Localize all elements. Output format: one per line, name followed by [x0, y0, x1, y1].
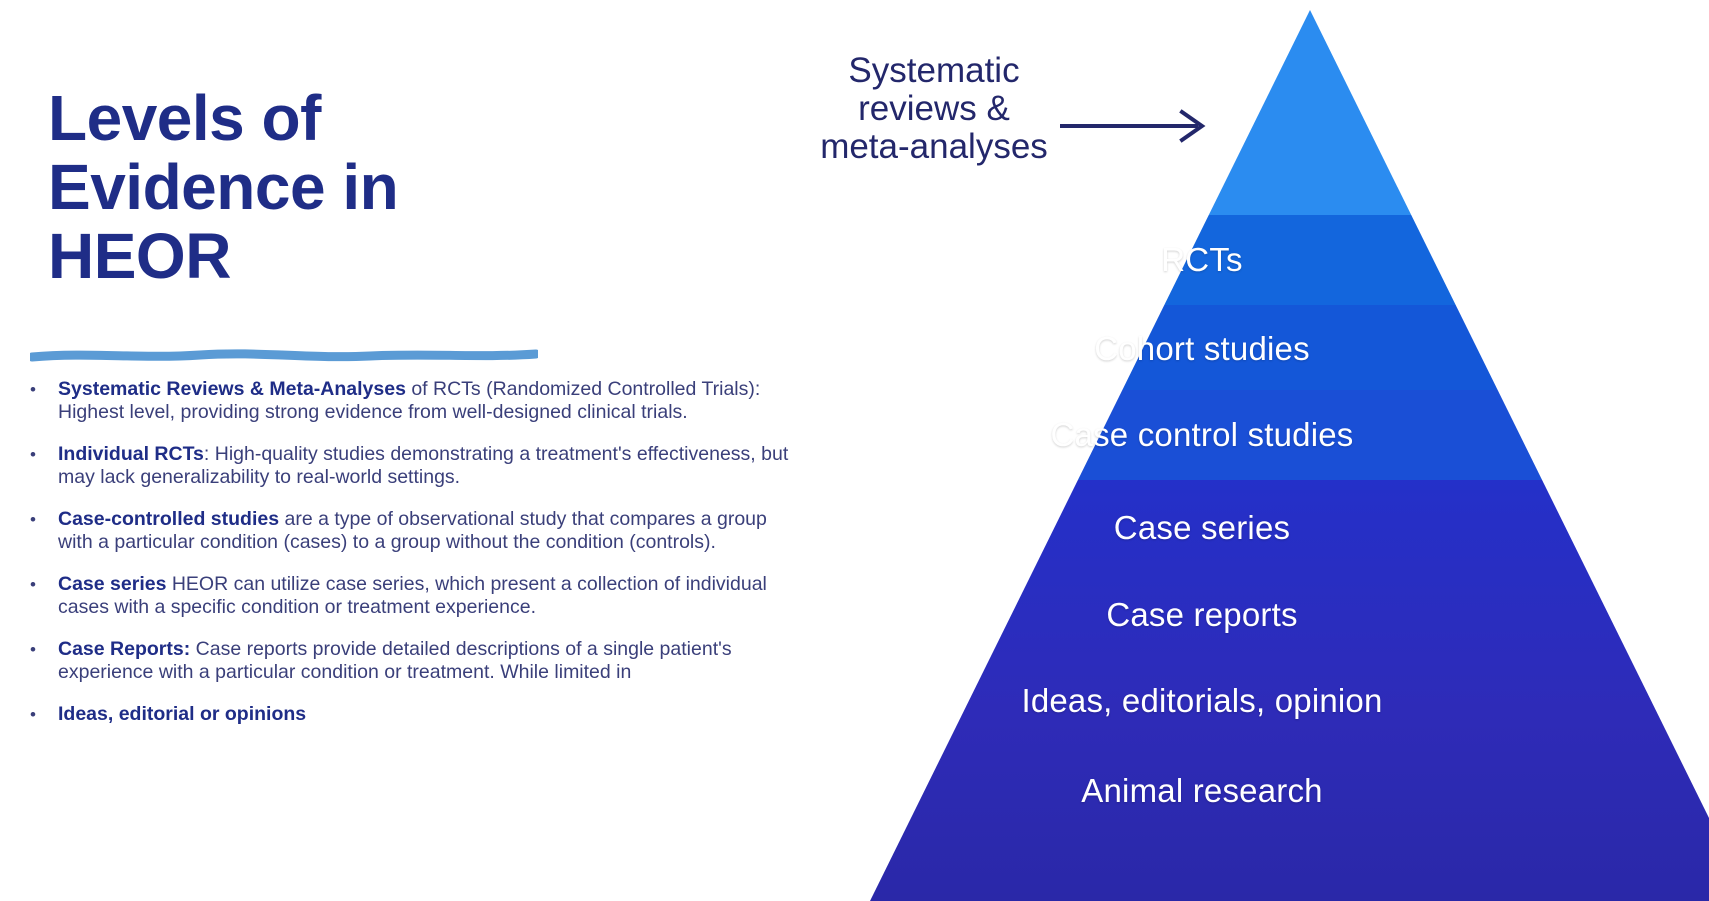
- pyramid-label-ideas-editorials-opinion: Ideas, editorials, opinion: [1021, 682, 1382, 720]
- bullet-marker: •: [30, 443, 58, 466]
- pyramid-label-case-control-studies: Case control studies: [1051, 416, 1354, 454]
- bullet-lead: Ideas, editorial or opinions: [58, 703, 306, 725]
- list-item: • Ideas, editorial or opinions: [30, 703, 790, 726]
- bullet-body: Individual RCTs: High-quality studies de…: [58, 443, 790, 488]
- pyramid-label-cohort-studies: Cohort studies: [1094, 330, 1310, 368]
- pyramid-label-case-reports: Case reports: [1106, 596, 1297, 634]
- bullet-lead: Case Reports:: [58, 638, 190, 660]
- list-item: • Case series HEOR can utilize case seri…: [30, 573, 790, 618]
- callout-label: Systematic reviews & meta-analyses: [806, 52, 1062, 166]
- title-underline-squiggle: [30, 349, 538, 362]
- list-item: • Case-controlled studies are a type of …: [30, 508, 790, 553]
- pyramid-label-case-series: Case series: [1114, 509, 1290, 547]
- bullet-body: Case-controlled studies are a type of ob…: [58, 508, 790, 553]
- bullet-marker: •: [30, 378, 58, 401]
- bullet-lead: Case-controlled studies: [58, 508, 279, 530]
- evidence-bullet-list: • Systematic Reviews & Meta-Analyses of …: [30, 378, 790, 746]
- bullet-lead: Individual RCTs: [58, 443, 204, 465]
- bullet-lead: Systematic Reviews & Meta-Analyses: [58, 378, 406, 400]
- page-title: Levels of Evidence in HEOR: [48, 84, 518, 291]
- arrow-right-icon: [1058, 104, 1214, 148]
- bullet-body: Ideas, editorial or opinions: [58, 703, 790, 726]
- bullet-marker: •: [30, 573, 58, 596]
- bullet-marker: •: [30, 508, 58, 531]
- pyramid-label-rcts: RCTs: [1161, 241, 1242, 279]
- bullet-body: Case Reports: Case reports provide detai…: [58, 638, 790, 683]
- bullet-marker: •: [30, 638, 58, 661]
- bullet-lead: Case series: [58, 573, 166, 595]
- list-item: • Individual RCTs: High-quality studies …: [30, 443, 790, 488]
- bullet-body: Systematic Reviews & Meta-Analyses of RC…: [58, 378, 790, 423]
- list-item: • Case Reports: Case reports provide det…: [30, 638, 790, 683]
- bullet-body: Case series HEOR can utilize case series…: [58, 573, 790, 618]
- list-item: • Systematic Reviews & Meta-Analyses of …: [30, 378, 790, 423]
- content-panel: Levels of Evidence in HEOR • Systematic …: [0, 0, 800, 901]
- pyramid-label-animal-research: Animal research: [1081, 772, 1322, 810]
- bullet-marker: •: [30, 703, 58, 726]
